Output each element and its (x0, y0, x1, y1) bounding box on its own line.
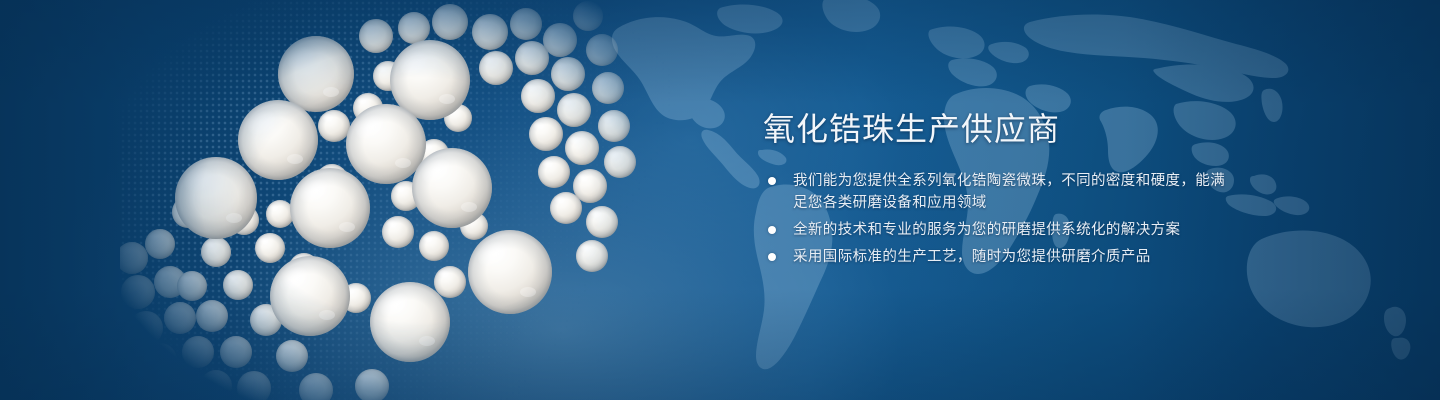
feature-list: 我们能为您提供全系列氧化锆陶瓷微珠，不同的密度和硬度，能满足您各类研磨设备和应用… (768, 170, 1238, 273)
list-item: 采用国际标准的生产工艺，随时为您提供研磨介质产品 (768, 246, 1238, 268)
bullet-marker-icon (768, 253, 776, 261)
zirconia-beads-photo (120, 0, 720, 400)
list-item: 全新的技术和专业的服务为您的研磨提供系统化的解决方案 (768, 219, 1238, 241)
bullet-marker-icon (768, 177, 776, 185)
banner-content: 氧化锆珠生产供应商 我们能为您提供全系列氧化锆陶瓷微珠，不同的密度和硬度，能满足… (763, 0, 1323, 400)
bead-cluster (120, 0, 720, 400)
list-item-label: 采用国际标准的生产工艺，随时为您提供研磨介质产品 (793, 246, 1238, 268)
page-title: 氧化锆珠生产供应商 (763, 110, 1060, 148)
bullet-marker-icon (768, 226, 776, 234)
list-item-label: 我们能为您提供全系列氧化锆陶瓷微珠，不同的密度和硬度，能满足您各类研磨设备和应用… (793, 170, 1238, 214)
list-item: 我们能为您提供全系列氧化锆陶瓷微珠，不同的密度和硬度，能满足您各类研磨设备和应用… (768, 170, 1238, 214)
list-item-label: 全新的技术和专业的服务为您的研磨提供系统化的解决方案 (793, 219, 1238, 241)
promo-banner: 氧化锆珠生产供应商 我们能为您提供全系列氧化锆陶瓷微珠，不同的密度和硬度，能满足… (0, 0, 1440, 400)
